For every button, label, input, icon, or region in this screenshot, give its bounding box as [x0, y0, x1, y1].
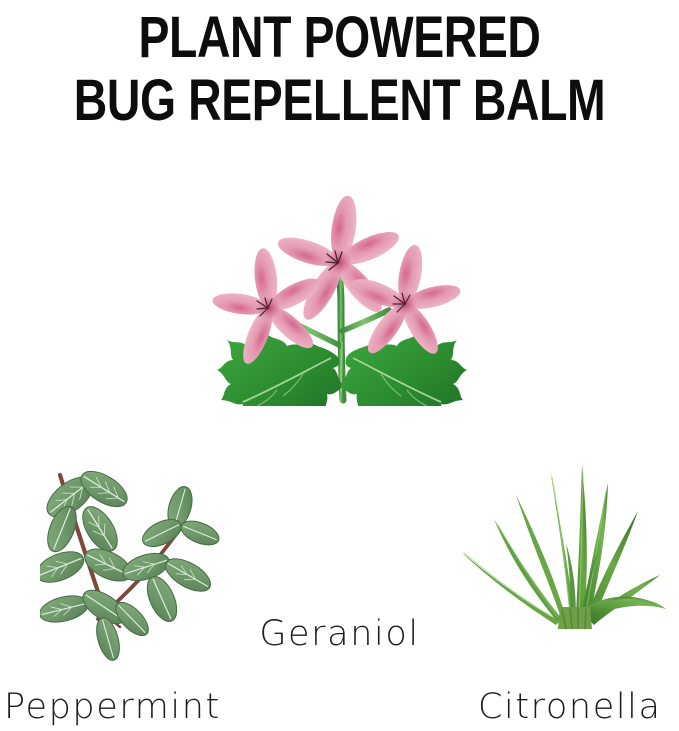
peppermint-leaf-group-lower [40, 584, 131, 663]
peppermint-leaf-group-upper [40, 467, 133, 557]
plant-label-citronella: Citronella [478, 687, 662, 727]
citronella-base [558, 607, 592, 629]
page-title-line-1: PLANT POWERED [68, 6, 611, 69]
citronella-blades [460, 465, 666, 625]
page-title-line-2: BUG REPELLENT BALM [68, 69, 611, 132]
geranium-leaf-left [217, 334, 345, 406]
plant-card-peppermint: Peppermint [0, 455, 340, 731]
plant-card-citronella: Citronella [340, 455, 679, 731]
plant-card-geraniol: Geraniol [0, 196, 679, 464]
citronella-grass-icon [448, 457, 673, 632]
page-title: PLANT POWERED BUG REPELLENT BALM [68, 6, 611, 132]
product-infographic: PLANT POWERED BUG REPELLENT BALM [0, 0, 679, 731]
peppermint-sprig-icon [40, 467, 220, 667]
geranium-flower-icon [191, 196, 491, 406]
plant-label-peppermint: Peppermint [4, 687, 221, 727]
geranium-leaf-right [339, 334, 467, 406]
